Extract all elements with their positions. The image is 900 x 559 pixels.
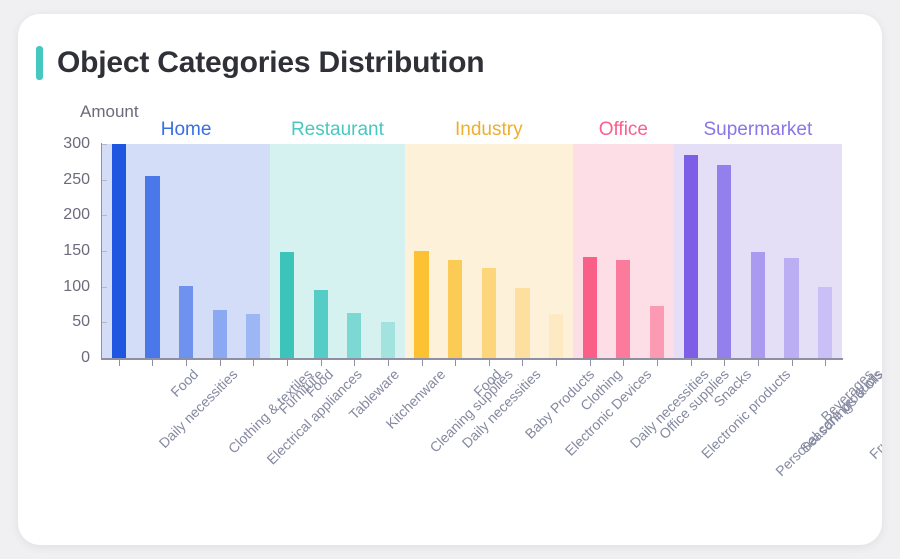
y-tick-mark (102, 180, 107, 181)
y-tick-label: 150 (48, 243, 90, 259)
x-tick-mark (792, 360, 793, 366)
bar[interactable] (213, 310, 227, 358)
group-label-home: Home (102, 119, 270, 141)
y-tick-mark (102, 251, 107, 252)
bar[interactable] (414, 251, 428, 358)
bar[interactable] (784, 258, 798, 358)
x-tick-mark (489, 360, 490, 366)
x-tick-mark (724, 360, 725, 366)
bar[interactable] (314, 290, 328, 358)
x-tick-mark (758, 360, 759, 366)
bar[interactable] (280, 252, 294, 358)
page-title: Object Categories Distribution (57, 46, 484, 80)
bar[interactable] (751, 252, 765, 358)
bar[interactable] (818, 287, 832, 358)
x-tick-mark (422, 360, 423, 366)
x-tick-mark (556, 360, 557, 366)
x-tick-mark (119, 360, 120, 366)
x-tick-mark (354, 360, 355, 366)
title-accent-bar (36, 46, 43, 80)
bar[interactable] (684, 155, 698, 358)
x-tick-mark (522, 360, 523, 366)
bar[interactable] (381, 322, 395, 358)
x-tick-mark (388, 360, 389, 366)
x-tick-mark (590, 360, 591, 366)
y-tick-label: 200 (48, 207, 90, 223)
bar[interactable] (717, 165, 731, 358)
y-tick-label: 0 (48, 350, 90, 366)
y-tick-mark (102, 287, 107, 288)
chart-card: Object Categories Distribution Amount 05… (18, 14, 882, 545)
x-tick-label: Food (168, 366, 202, 400)
x-tick-mark (691, 360, 692, 366)
group-label-supermarket: Supermarket (674, 119, 842, 141)
bar[interactable] (145, 176, 159, 358)
x-tick-mark (220, 360, 221, 366)
bar[interactable] (448, 260, 462, 358)
x-tick-mark (152, 360, 153, 366)
chart-title-row: Object Categories Distribution (36, 46, 484, 80)
bar[interactable] (347, 313, 361, 358)
y-tick-mark (102, 144, 107, 145)
y-tick-label: 100 (48, 279, 90, 295)
group-label-office: Office (573, 119, 674, 141)
x-tick-mark (825, 360, 826, 366)
y-tick-label: 300 (48, 136, 90, 152)
y-tick-label: 50 (48, 314, 90, 330)
bar[interactable] (179, 286, 193, 358)
y-tick-mark (102, 322, 107, 323)
x-tick-mark (321, 360, 322, 366)
bar[interactable] (482, 268, 496, 358)
x-tick-mark (186, 360, 187, 366)
x-tick-mark (455, 360, 456, 366)
bar[interactable] (246, 314, 260, 358)
x-tick-mark (657, 360, 658, 366)
group-label-industry: Industry (405, 119, 573, 141)
bar[interactable] (650, 306, 664, 358)
bar[interactable] (616, 260, 630, 358)
y-tick-mark (102, 215, 107, 216)
bar[interactable] (112, 144, 126, 358)
y-tick-label: 250 (48, 172, 90, 188)
x-tick-mark (253, 360, 254, 366)
plot-area (102, 144, 842, 358)
x-tick-mark (287, 360, 288, 366)
group-label-restaurant: Restaurant (270, 119, 405, 141)
x-axis-line (101, 358, 843, 360)
y-axis-tick-labels: 050100150200250300 (48, 14, 90, 545)
bar[interactable] (583, 257, 597, 358)
bar[interactable] (549, 314, 563, 358)
x-tick-mark (623, 360, 624, 366)
bar[interactable] (515, 288, 529, 358)
